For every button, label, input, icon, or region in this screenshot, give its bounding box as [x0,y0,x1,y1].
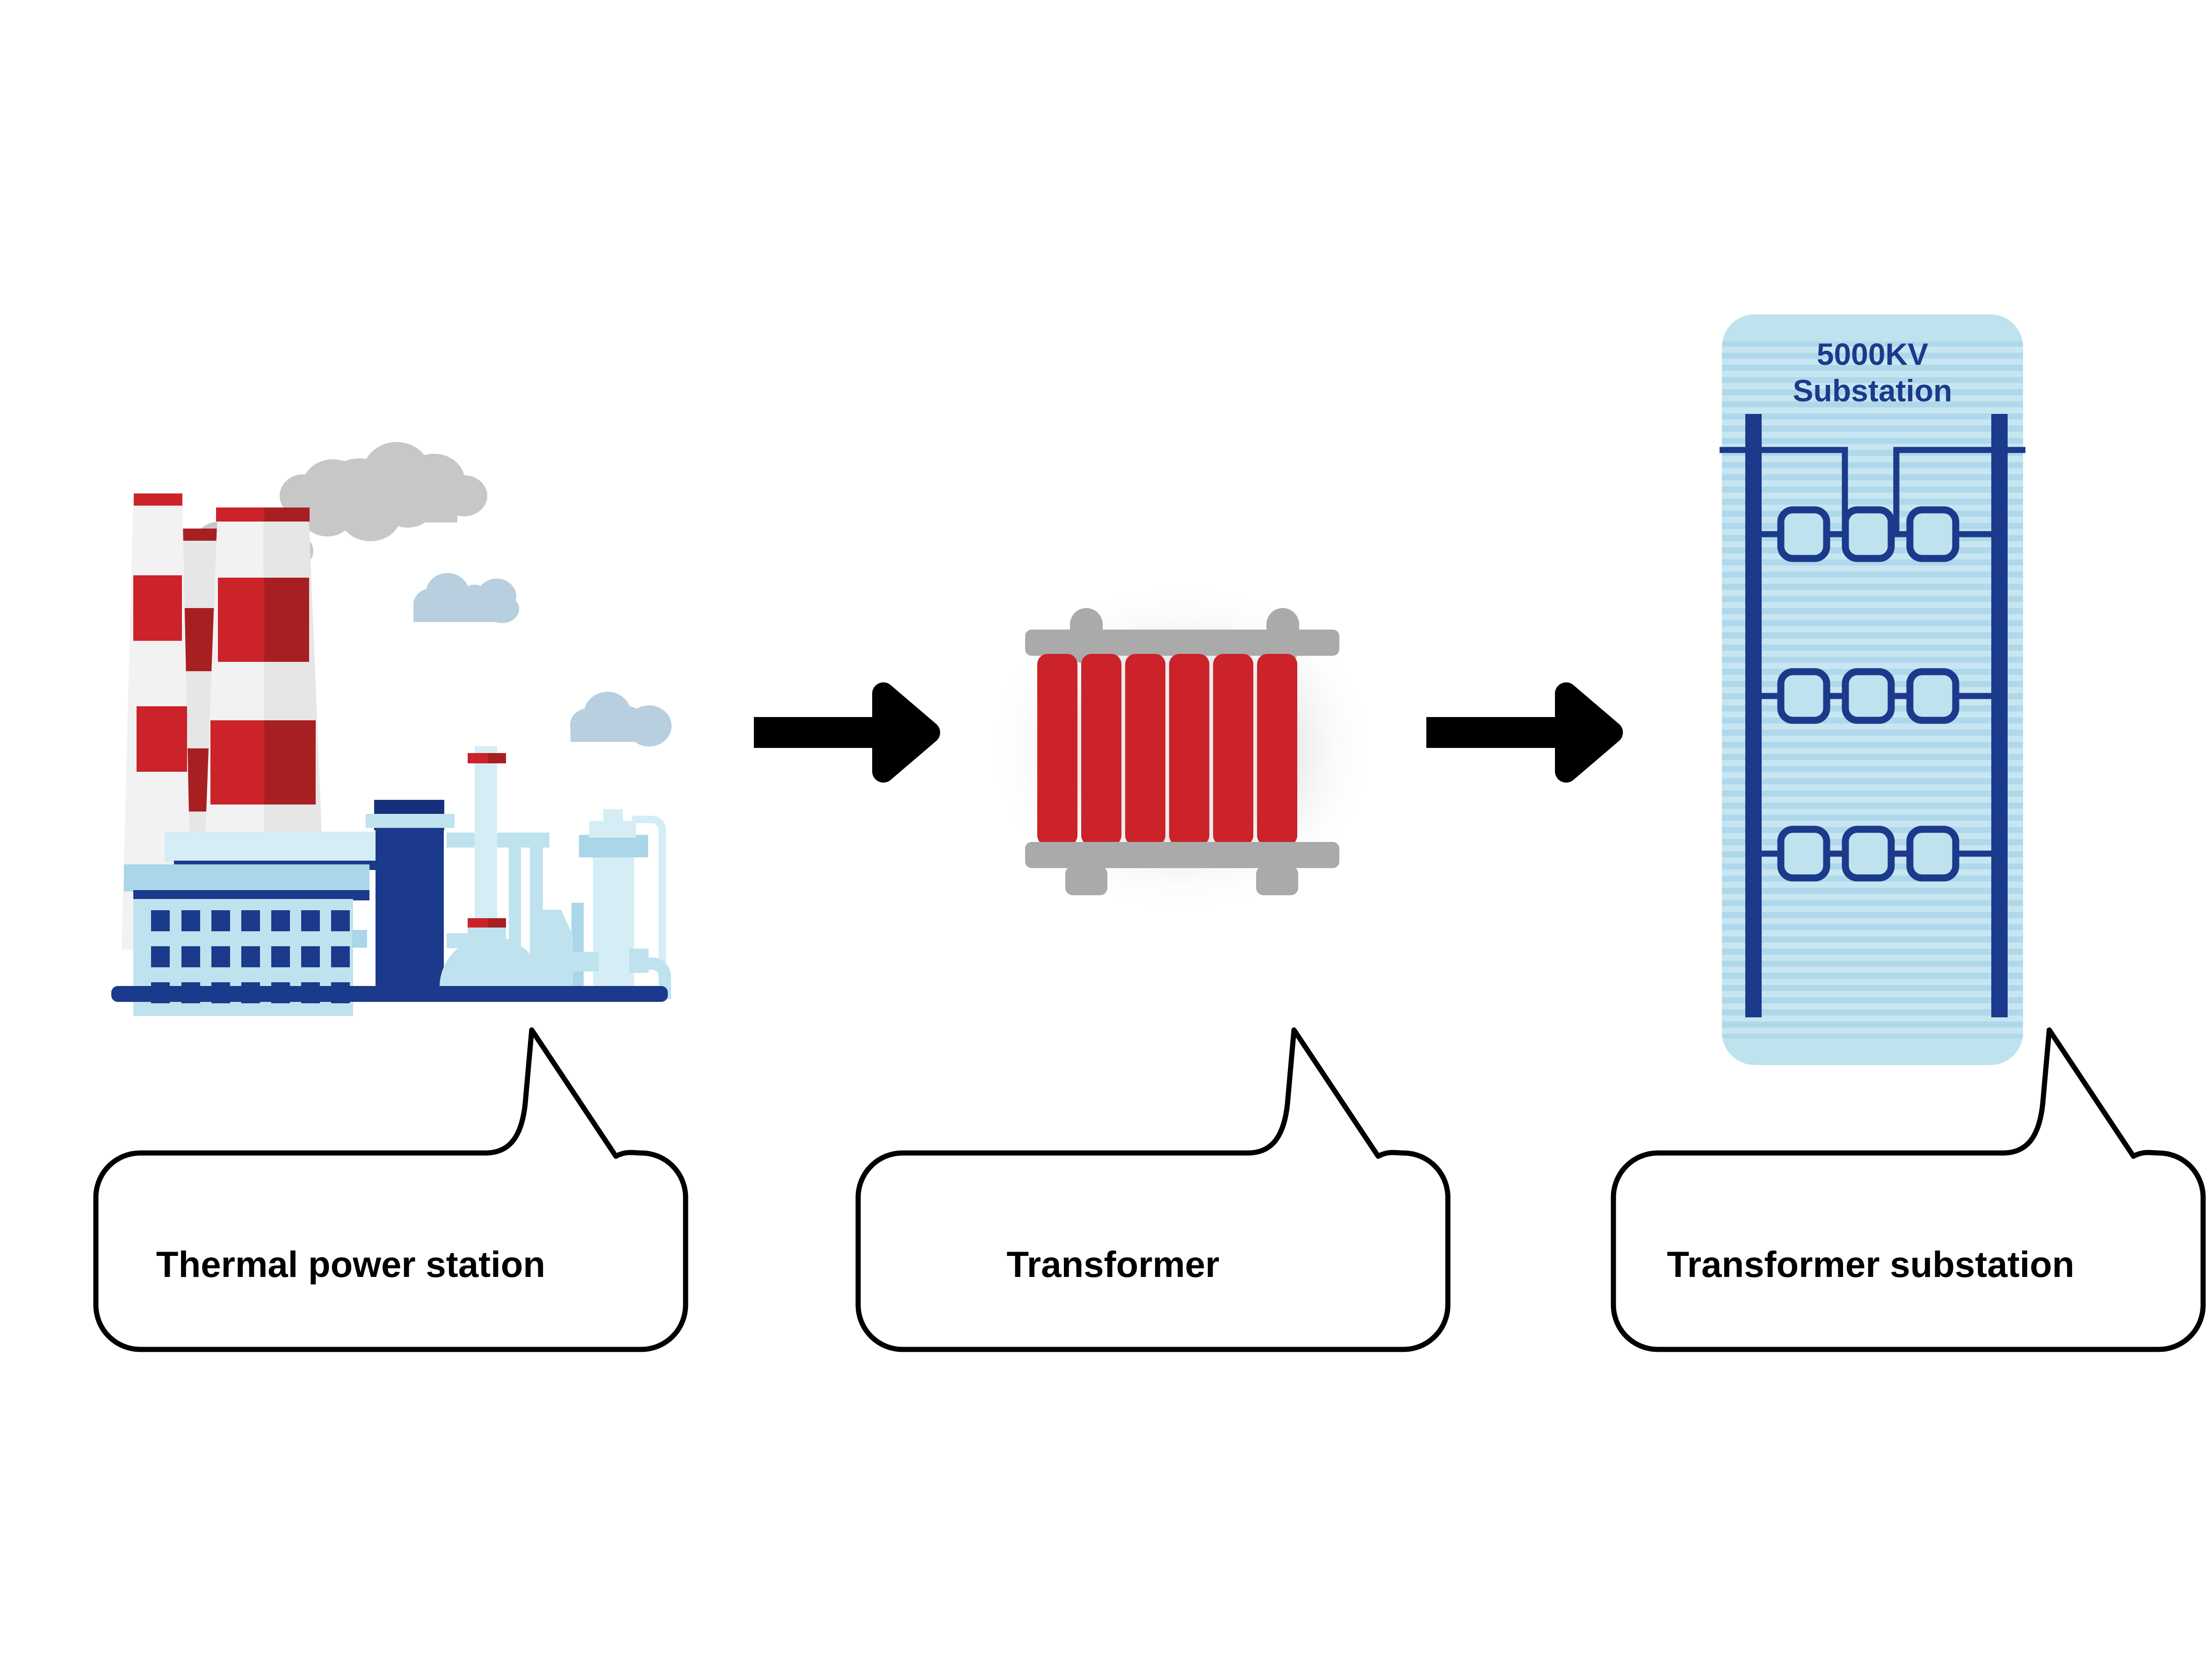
arrow-1-icon [754,682,940,783]
substation-title-line-2: Substation [1793,373,1952,408]
distillation-column-icon [440,746,542,987]
navy-silo-icon [366,800,455,987]
illustration-layer: 5000KV Substation Thermal power station … [0,0,2212,1660]
transformer-top-bar [1025,630,1339,656]
transformer-foot-right [1256,866,1298,895]
cloud-2-icon [570,692,672,747]
callout-transformer-substation[interactable]: Transformer substation [1613,1030,2203,1349]
ground-bar [111,986,668,1002]
diagram-canvas: 5000KV Substation Thermal power station … [0,0,2212,1660]
substation-icon: 5000KV Substation [1720,314,2025,1065]
callout-thermal-power-station[interactable]: Thermal power station [96,1030,686,1349]
cloud-1-icon [413,573,519,623]
callout-transformer[interactable]: Transformer [858,1030,1448,1349]
plant-unit-right-icon [533,809,665,999]
substation-title-line-1: 5000KV [1817,337,1929,371]
substation-bus-left [1745,414,1762,1017]
transformer-bottom-bar [1025,842,1339,868]
callout-label-transformer-substation: Transformer substation [1667,1244,2074,1285]
callout-label-transformer: Transformer [1006,1244,1219,1285]
arrow-2-icon [1426,682,1623,783]
substation-devices-row-1 [1781,510,1956,558]
diagram-scene: 5000KV Substation Thermal power station … [0,0,2212,1660]
chimney-plinth [165,832,409,862]
smoke-plume-large-icon [280,442,487,541]
callout-label-thermal-power-station: Thermal power station [156,1244,545,1285]
substation-devices-row-2 [1781,672,1956,720]
factory-icon [111,442,672,1016]
transformer-icon [986,580,1379,917]
substation-bus-right [1991,414,2008,1017]
transformer-foot-left [1065,866,1107,895]
substation-devices-row-3 [1781,829,1956,878]
